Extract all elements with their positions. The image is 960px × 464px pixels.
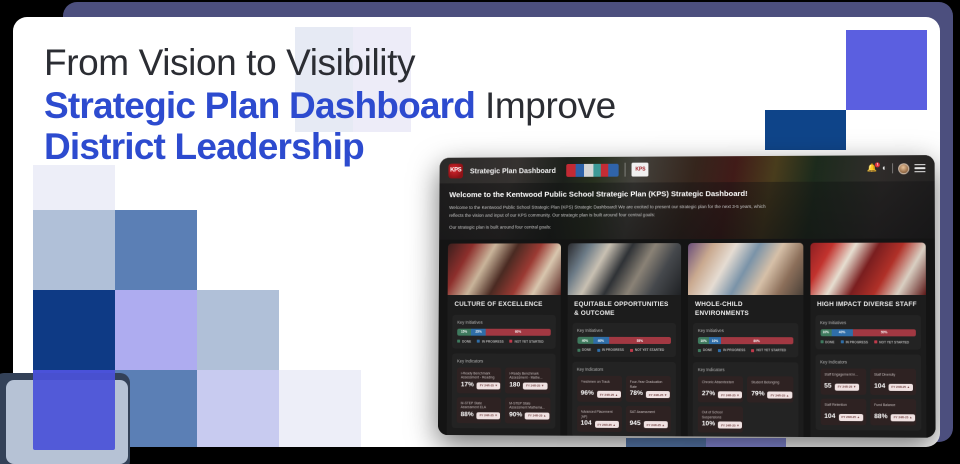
goal-card[interactable]: CULTURE OF EXCELLENCE Key Initiatives 15… <box>447 243 561 437</box>
segment-in-progress: 25% <box>471 328 486 335</box>
legend-progress-label: IN PROGRESS <box>723 348 745 352</box>
legend-progress-label: IN PROGRESS <box>846 340 868 344</box>
block-steel-1 <box>115 210 197 290</box>
key-indicators-label: Key Indicators <box>457 358 550 363</box>
block-steel-small-right <box>627 444 635 447</box>
indicator-tile[interactable]: Four-Year Graduation Rate 78% FY 24R-25 … <box>626 376 671 402</box>
indicator-trend-pill: FY 24R-25 ▲ <box>595 421 619 428</box>
indicator-name: Staff Engagement in... <box>824 372 862 381</box>
goal-card[interactable]: WHOLE-CHILD ENVIRONMENTS Key Initiatives… <box>688 243 803 438</box>
indicator-tile[interactable]: i-Ready Benchmark Assessment - Reading 1… <box>457 367 502 393</box>
legend-not-started-swatch <box>630 349 633 352</box>
segment-done: 10% <box>698 337 709 344</box>
indicator-trend-pill: FY 24R-25 ▼ <box>718 392 742 399</box>
indicator-trend-pill: FY 24R-25 ▲ <box>891 414 916 421</box>
segment-done: 10% <box>820 329 831 336</box>
indicator-tile[interactable]: M-STEP State Assessment ELA 88% FY 24R-2… <box>457 397 502 423</box>
indicator-row: 55 FY 24R-25 ▼ <box>824 383 862 390</box>
indicator-name: Four-Year Graduation Rate <box>630 380 667 389</box>
indicator-row: 78% FY 24R-25 ▼ <box>630 391 667 398</box>
indicator-row: 945 FY 24R-25 ▲ <box>630 421 667 428</box>
key-indicators-section: Key Indicators i-Ready Benchmark Assessm… <box>452 353 555 428</box>
indicator-tile[interactable]: Staff Retention 104 FY 24R-25 ▲ <box>820 398 866 424</box>
legend-done: DONE <box>820 340 834 344</box>
indicator-value: 180 <box>509 382 520 389</box>
indicator-value: 104 <box>824 414 835 421</box>
indicator-name: SAT Assessment <box>630 410 667 419</box>
indicator-value: 945 <box>630 421 641 428</box>
headline-line-3: District Leadership <box>44 128 616 165</box>
indicator-trend-pill: FY 24R-25 ▼ <box>477 412 501 419</box>
initiatives-progress-bar: 15% 25% 60% <box>457 328 550 335</box>
indicator-tile[interactable]: i-Ready Benchmark Assessment - Mathe... … <box>505 367 550 393</box>
indicator-tile[interactable]: Fund Balance 88% FY 24R-25 ▲ <box>870 399 916 426</box>
segment-not-started: 80% <box>721 337 793 344</box>
indicator-value: 10% <box>702 422 715 429</box>
indicator-trend-pill: FY 24R-25 ▲ <box>768 392 792 399</box>
block-periwinkle-1 <box>115 290 197 370</box>
indicator-value: 17% <box>461 382 474 389</box>
indicator-name: Staff Diversity <box>874 372 912 381</box>
indicator-trend-pill: FY 24R-25 ▲ <box>888 383 913 390</box>
indicator-name: Freshmen on Track <box>581 380 618 389</box>
key-indicators-section: Key Indicators Chronic Absenteeism 27% F… <box>693 362 798 437</box>
indicator-name: Out of School Suspensions <box>702 411 739 420</box>
indicator-trend-pill: FY 24R-25 ▲ <box>838 414 863 421</box>
headline-line-1: From Vision to Visibility <box>44 44 616 81</box>
legend-in-progress: IN PROGRESS <box>597 348 624 352</box>
welcome-banner: Welcome to the Kentwood Public School St… <box>439 181 935 239</box>
indicator-name: i-Ready Benchmark Assessment - Mathe... <box>509 371 546 380</box>
initiatives-progress-bar: 10% 10% 80% <box>698 337 793 344</box>
key-initiatives-label: Key Initiatives <box>698 328 793 333</box>
indicator-trend-pill: FY 24R-25 ▼ <box>718 422 742 429</box>
header-actions: 🔔1 ◐ <box>867 163 926 174</box>
bell-icon[interactable]: 🔔1 <box>867 164 877 172</box>
key-initiatives-label: Key Initiatives <box>577 328 671 333</box>
kps-badge-icon: KPS <box>632 163 649 177</box>
page-root: From Vision to Visibility Strategic Plan… <box>0 0 960 464</box>
card-photo <box>810 243 926 295</box>
initiatives-legend: DONE IN PROGRESS NOT YET STARTED <box>457 339 550 343</box>
legend-not-started: NOT YET STARTED <box>510 339 544 343</box>
block-lightsteel-1 <box>33 210 115 290</box>
dashboard-window[interactable]: KPS Strategic Plan Dashboard KPS 🔔1 ◐ We… <box>438 155 936 438</box>
legend-not-started-swatch <box>751 349 754 352</box>
indicator-grid: Freshmen on Track 96% FY 24R-25 ▲ Four-Y… <box>577 376 671 432</box>
key-initiatives-label: Key Initiatives <box>457 319 550 324</box>
legend-done-label: DONE <box>825 340 834 344</box>
segment-done: 15% <box>457 328 471 335</box>
legend-done-swatch <box>698 349 701 352</box>
indicator-row: 90% FY 24R-25 ▲ <box>509 412 546 419</box>
key-initiatives-section: Key Initiatives 15% 25% 60% DONE IN PROG… <box>452 314 555 348</box>
block-navy-1 <box>33 290 115 370</box>
legend-done-swatch <box>577 349 580 352</box>
indicator-tile[interactable]: Student Belonging 79% FY 24R-25 ▲ <box>747 377 793 403</box>
indicator-tile[interactable]: SAT Assessment 945 FY 24R-25 ▲ <box>626 406 671 432</box>
indicator-row: 104 FY 24R-25 ▲ <box>824 414 862 421</box>
initiatives-progress-bar: 40% 40% 55% <box>577 337 671 344</box>
card-title: WHOLE-CHILD ENVIRONMENTS <box>688 295 803 323</box>
initiatives-legend: DONE IN PROGRESS NOT YET STARTED <box>820 340 916 344</box>
initiatives-legend: DONE IN PROGRESS NOT YET STARTED <box>698 348 793 352</box>
indicator-row: 104 FY 24R-25 ▲ <box>581 421 618 428</box>
page-title: From Vision to Visibility Strategic Plan… <box>44 44 616 169</box>
indicator-value: 104 <box>581 421 592 428</box>
headline-line-2: Strategic Plan Dashboard Improve <box>44 87 616 124</box>
legend-not-started: NOT YET STARTED <box>874 340 909 344</box>
card-photo <box>448 243 561 295</box>
legend-not-started-label: NOT YET STARTED <box>756 348 786 352</box>
goal-card[interactable]: EQUITABLE OPPORTUNITIES & OUTCOME Key In… <box>567 243 681 438</box>
welcome-subline: Our strategic plan is built around four … <box>449 223 776 231</box>
headline-strong: Strategic Plan Dashboard <box>44 85 475 126</box>
block-pale-bottomright <box>279 370 361 447</box>
card-photo <box>567 243 681 295</box>
indicator-tile[interactable]: Out of School Suspensions 10% FY 24R-25 … <box>698 407 743 433</box>
indicator-trend-pill: FY 24R-25 ▼ <box>477 382 501 389</box>
legend-done: DONE <box>457 339 471 343</box>
indicator-name: Student Belonging <box>751 381 789 390</box>
header-divider <box>625 163 626 177</box>
key-indicators-section: Key Indicators Staff Engagement in... 55… <box>815 354 921 430</box>
welcome-heading: Welcome to the Kentwood Public School St… <box>449 188 924 199</box>
block-lightsteel-2 <box>197 290 279 370</box>
legend-not-started-swatch <box>874 340 877 343</box>
welcome-paragraph: Welcome to the Kentwood Public School St… <box>449 203 776 219</box>
indicator-name: Staff Retention <box>824 402 862 411</box>
hamburger-menu-icon[interactable] <box>914 164 925 172</box>
indicator-row: 104 FY 24R-25 ▲ <box>874 383 912 390</box>
indicator-grid: i-Ready Benchmark Assessment - Reading 1… <box>457 367 550 423</box>
indicator-trend-pill: FY 24R-25 ▼ <box>523 382 547 389</box>
key-initiatives-section: Key Initiatives 10% 10% 80% DONE IN PROG… <box>693 323 798 357</box>
segment-in-progress: 40% <box>593 337 609 344</box>
indicator-row: 10% FY 24R-25 ▼ <box>702 422 739 429</box>
key-initiatives-section: Key Initiatives 10% 40% 50% DONE IN PROG… <box>815 315 921 349</box>
segment-not-started: 55% <box>609 337 671 344</box>
legend-done: DONE <box>698 348 712 352</box>
card-photo <box>688 243 803 295</box>
segment-in-progress: 40% <box>832 329 853 336</box>
block-periwinkle-bottom <box>706 438 786 447</box>
indicator-value: 55 <box>824 383 831 390</box>
goal-cards-row: CULTURE OF EXCELLENCE Key Initiatives 15… <box>438 239 936 438</box>
legend-progress-swatch <box>477 340 480 343</box>
legend-progress-label: IN PROGRESS <box>482 339 504 343</box>
key-indicators-label: Key Indicators <box>577 367 671 372</box>
segment-done: 40% <box>577 337 593 344</box>
legend-done-label: DONE <box>703 348 712 352</box>
segment-in-progress: 10% <box>709 337 720 344</box>
card-title: HIGH IMPACT DIVERSE STAFF <box>810 295 926 315</box>
indicator-name: i-Ready Benchmark Assessment - Reading <box>461 371 498 380</box>
legend-progress-label: IN PROGRESS <box>602 348 624 352</box>
indicator-grid: Chronic Absenteeism 27% FY 24R-25 ▼ Stud… <box>698 376 793 433</box>
indicator-row: 88% FY 24R-25 ▲ <box>874 414 912 421</box>
legend-progress-swatch <box>841 340 844 343</box>
headline-line-2-rest: Improve <box>475 85 616 126</box>
indicator-trend-pill: FY 24R-25 ▲ <box>597 391 621 398</box>
block-navy-topright <box>765 110 846 150</box>
segment-not-started: 50% <box>853 329 916 336</box>
legend-not-started-swatch <box>510 340 513 343</box>
block-steel-bottom <box>626 438 706 447</box>
indicator-value: 104 <box>874 384 885 391</box>
indicator-value: 88% <box>874 414 887 421</box>
initiatives-progress-bar: 10% 40% 50% <box>820 329 916 336</box>
key-initiatives-label: Key Initiatives <box>820 320 916 325</box>
block-royal-overlay <box>33 370 115 450</box>
legend-in-progress: IN PROGRESS <box>718 348 745 352</box>
indicator-value: 79% <box>751 392 764 399</box>
indicator-name: M-STEP State Assessment Mathema... <box>509 401 546 410</box>
indicator-trend-pill: FY 24R-25 ▲ <box>644 421 668 428</box>
indicator-trend-pill: FY 24R-25 ▲ <box>525 412 549 419</box>
indicator-tile[interactable]: Staff Diversity 104 FY 24R-25 ▲ <box>870 368 916 394</box>
indicator-tile[interactable]: Chronic Absenteeism 27% FY 24R-25 ▼ <box>698 376 743 402</box>
contrast-icon[interactable]: ◐ <box>882 164 887 172</box>
indicator-row: 79% FY 24R-25 ▲ <box>751 392 789 399</box>
indicator-value: 96% <box>581 391 594 398</box>
legend-done-label: DONE <box>582 348 591 352</box>
indicator-trend-pill: FY 24R-25 ▼ <box>835 383 860 390</box>
block-royal-topright <box>846 30 927 110</box>
key-indicators-section: Key Indicators Freshmen on Track 96% FY … <box>572 362 676 438</box>
main-white-card: From Vision to Visibility Strategic Plan… <box>13 17 940 447</box>
indicator-value: 78% <box>630 391 643 398</box>
indicator-row: 180 FY 24R-25 ▼ <box>509 382 546 389</box>
legend-in-progress: IN PROGRESS <box>477 339 504 343</box>
legend-not-started-label: NOT YET STARTED <box>515 339 544 343</box>
indicator-tile[interactable]: M-STEP State Assessment Mathema... 90% F… <box>505 397 550 423</box>
segment-not-started: 60% <box>486 328 550 335</box>
indicator-row: 96% FY 24R-25 ▲ <box>581 391 618 398</box>
legend-done: DONE <box>577 348 591 352</box>
avatar[interactable] <box>898 163 909 174</box>
card-title: EQUITABLE OPPORTUNITIES & OUTCOME <box>567 295 681 323</box>
key-indicators-label: Key Indicators <box>698 367 793 372</box>
indicator-value: 90% <box>509 412 522 419</box>
indicator-tile[interactable]: Advanced Placement (AP) 104 FY 24R-25 ▲ <box>577 406 622 432</box>
indicator-row: 88% FY 24R-25 ▼ <box>461 412 498 419</box>
indicator-tile[interactable]: Freshmen on Track 96% FY 24R-25 ▲ <box>577 376 622 402</box>
indicator-name: Fund Balance <box>874 403 912 412</box>
header-separator <box>892 163 893 173</box>
legend-progress-swatch <box>718 349 721 352</box>
indicator-row: 27% FY 24R-25 ▼ <box>702 391 739 398</box>
goal-card[interactable]: HIGH IMPACT DIVERSE STAFF Key Initiative… <box>810 243 927 438</box>
key-initiatives-section: Key Initiatives 40% 40% 55% DONE IN PROG… <box>572 323 676 357</box>
key-indicators-label: Key Indicators <box>820 359 916 364</box>
notification-badge: 1 <box>875 162 880 167</box>
indicator-row: 17% FY 24R-25 ▼ <box>461 382 498 389</box>
indicator-trend-pill: FY 24R-25 ▼ <box>646 391 670 398</box>
indicator-value: 27% <box>702 392 715 399</box>
legend-done-swatch <box>820 340 823 343</box>
legend-not-started: NOT YET STARTED <box>751 348 786 352</box>
indicator-value: 88% <box>461 412 474 419</box>
legend-in-progress: IN PROGRESS <box>841 340 868 344</box>
indicator-name: Advanced Placement (AP) <box>581 410 618 419</box>
legend-done-label: DONE <box>462 339 471 343</box>
legend-done-swatch <box>457 340 460 343</box>
initiatives-legend: DONE IN PROGRESS NOT YET STARTED <box>577 348 671 352</box>
card-title: CULTURE OF EXCELLENCE <box>448 295 561 315</box>
indicator-name: Chronic Absenteeism <box>702 380 739 389</box>
indicator-name: M-STEP State Assessment ELA <box>461 401 498 410</box>
block-periwinkle-2 <box>197 370 279 447</box>
legend-not-started-label: NOT YET STARTED <box>879 340 909 344</box>
legend-progress-swatch <box>597 349 600 352</box>
indicator-grid: Staff Engagement in... 55 FY 24R-25 ▼ St… <box>820 368 916 425</box>
legend-not-started: NOT YET STARTED <box>630 348 664 352</box>
legend-not-started-label: NOT YET STARTED <box>635 348 664 352</box>
indicator-tile[interactable]: Staff Engagement in... 55 FY 24R-25 ▼ <box>820 368 866 394</box>
